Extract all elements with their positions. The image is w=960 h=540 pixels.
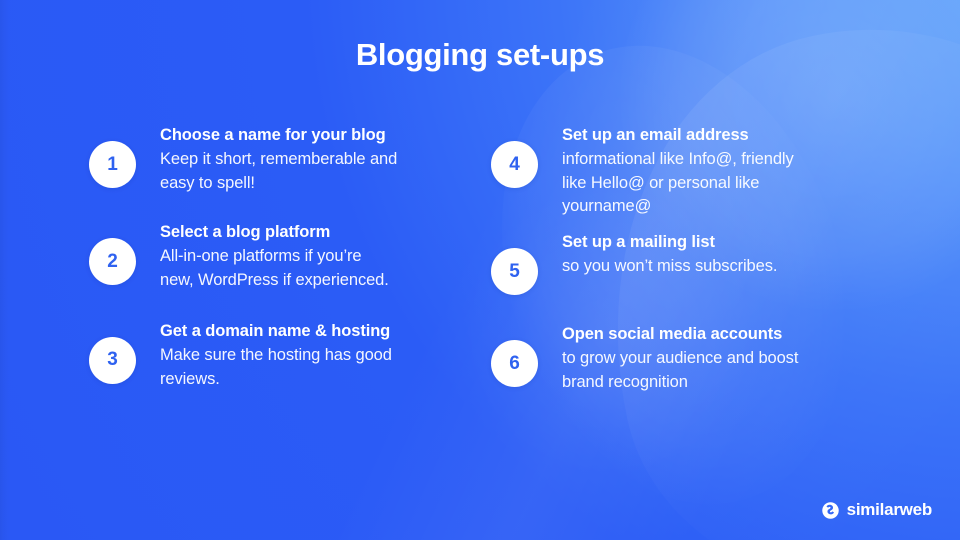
step-text-block: Choose a name for your blog Keep it shor… xyxy=(160,124,397,195)
step-item: 2 Select a blog platform All-in-one plat… xyxy=(89,221,481,292)
step-body-line: informational like Info@, friendly xyxy=(562,148,794,172)
step-item: 3 Get a domain name & hosting Make sure … xyxy=(89,320,481,391)
step-heading: Set up an email address xyxy=(562,124,794,148)
step-body-line: like Hello@ or personal like xyxy=(562,172,794,196)
step-text-block: Get a domain name & hosting Make sure th… xyxy=(160,320,392,391)
step-body-line: to grow your audience and boost xyxy=(562,347,798,371)
slide-title: Blogging set-ups xyxy=(0,38,960,72)
step-body: informational like Info@, friendly like … xyxy=(562,148,794,219)
slide-canvas: Blogging set-ups 1 Choose a name for you… xyxy=(0,0,960,540)
similarweb-s-mark-icon xyxy=(821,501,840,520)
step-body-line: reviews. xyxy=(160,368,392,392)
step-body-line: Keep it short, rememberable and xyxy=(160,148,397,172)
step-body: so you won’t miss subscribes. xyxy=(562,255,777,279)
step-number-badge: 5 xyxy=(491,248,538,295)
steps-column-right: 4 Set up an email address informational … xyxy=(491,124,891,419)
step-body: All-in-one platforms if you’re new, Word… xyxy=(160,245,389,293)
step-item: 4 Set up an email address informational … xyxy=(491,124,891,219)
step-body: Keep it short, rememberable and easy to … xyxy=(160,148,397,196)
step-heading: Set up a mailing list xyxy=(562,231,777,255)
step-item: 1 Choose a name for your blog Keep it sh… xyxy=(89,124,481,195)
step-heading: Choose a name for your blog xyxy=(160,124,397,148)
step-body-line: yourname@ xyxy=(562,195,794,219)
step-number-badge: 2 xyxy=(89,238,136,285)
step-heading: Open social media accounts xyxy=(562,323,798,347)
step-number-badge: 3 xyxy=(89,337,136,384)
step-number-badge: 6 xyxy=(491,340,538,387)
step-text-block: Set up an email address informational li… xyxy=(562,124,794,219)
step-text-block: Set up a mailing list so you won’t miss … xyxy=(562,231,777,279)
similarweb-logo-text: similarweb xyxy=(847,500,932,520)
step-text-block: Select a blog platform All-in-one platfo… xyxy=(160,221,389,292)
step-body: to grow your audience and boost brand re… xyxy=(562,347,798,395)
step-body-line: Make sure the hosting has good xyxy=(160,344,392,368)
step-body-line: brand recognition xyxy=(562,371,798,395)
step-number-badge: 4 xyxy=(491,141,538,188)
step-body-line: so you won’t miss subscribes. xyxy=(562,255,777,279)
step-body: Make sure the hosting has good reviews. xyxy=(160,344,392,392)
step-body-line: new, WordPress if experienced. xyxy=(160,269,389,293)
step-body-line: easy to spell! xyxy=(160,172,397,196)
steps-column-left: 1 Choose a name for your blog Keep it sh… xyxy=(89,124,481,415)
step-item: 5 Set up a mailing list so you won’t mis… xyxy=(491,231,891,295)
step-heading: Get a domain name & hosting xyxy=(160,320,392,344)
similarweb-logo: similarweb xyxy=(821,500,932,520)
step-body-line: All-in-one platforms if you’re xyxy=(160,245,389,269)
step-text-block: Open social media accounts to grow your … xyxy=(562,323,798,394)
step-number-badge: 1 xyxy=(89,141,136,188)
step-item: 6 Open social media accounts to grow you… xyxy=(491,323,891,394)
step-heading: Select a blog platform xyxy=(160,221,389,245)
